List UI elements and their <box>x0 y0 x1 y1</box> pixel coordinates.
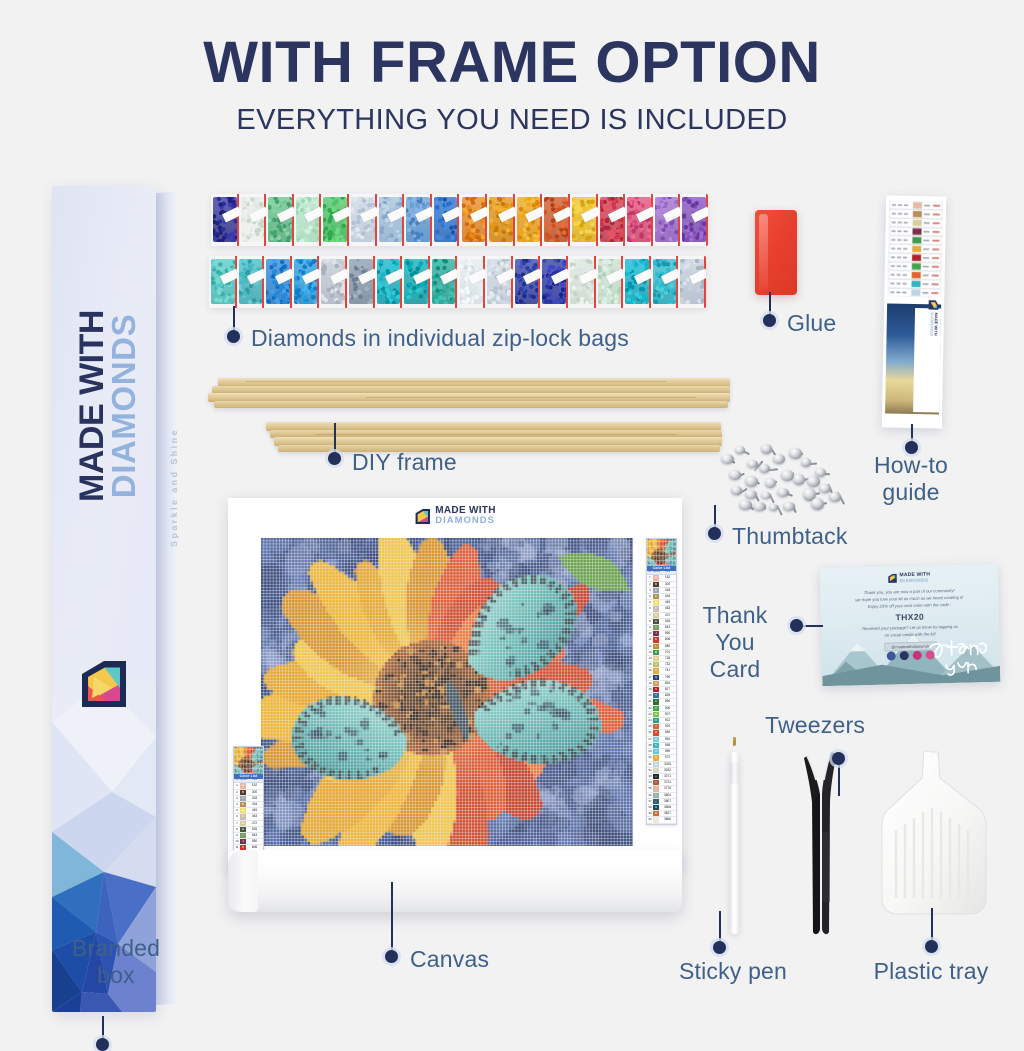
thumbtack-pile <box>715 440 845 516</box>
thumbtack <box>739 500 752 510</box>
thumbtack <box>745 476 758 487</box>
zip-lock-bag <box>209 256 237 308</box>
zip-lock-bag <box>402 256 430 308</box>
zip-lock-bag <box>568 256 596 308</box>
thank-you-card-dot <box>790 619 803 632</box>
twitter-icon <box>900 651 909 660</box>
branded-box: Sparkle and Shine <box>52 186 178 1018</box>
canvas-dot <box>385 950 398 963</box>
brand-logo-icon <box>414 508 431 525</box>
zip-lock-bag <box>404 194 432 246</box>
zip-lock-bag <box>430 256 458 308</box>
color-list-rows: 1A1522B3003C3184D4345E4456F4537G4728H535… <box>647 575 676 823</box>
thumbtack <box>815 468 826 477</box>
canvas-logo-diamonds: DIAMONDS <box>435 516 495 526</box>
frame-slat <box>278 445 720 452</box>
color-list-row: 40C3866 <box>647 817 676 823</box>
wood-grain <box>246 381 666 382</box>
canvas-artwork <box>261 538 633 846</box>
bag-row-top <box>211 194 708 246</box>
facebook-icon <box>887 651 896 660</box>
callout-thumbtack: Thumbtack <box>732 523 848 550</box>
zip-lock-bag <box>625 194 653 246</box>
guide-color-chart <box>887 201 943 298</box>
zip-lock-bag <box>460 194 488 246</box>
tweezers <box>801 742 843 938</box>
bag-zip-seal <box>704 256 706 308</box>
callout-sticky-pen: Sticky pen <box>672 958 794 985</box>
glue-dot <box>763 314 776 327</box>
color-list-rows: 1A1522B3003C3184D4345E4456F4537G4728H535… <box>234 783 263 857</box>
wood-grain <box>366 397 696 398</box>
zip-lock-bag <box>432 194 460 246</box>
thumbtack <box>731 486 742 495</box>
thumbtack <box>759 464 770 473</box>
thumbtack <box>807 476 820 487</box>
zip-lock-bag <box>570 194 598 246</box>
glue <box>755 210 797 295</box>
canvas: MADE WITH DIAMONDS Color List No Symbol … <box>228 498 682 918</box>
zip-lock-bag <box>266 194 294 246</box>
diy-frame-leader-v <box>334 423 336 455</box>
zip-lock-bag <box>237 256 265 308</box>
callout-branded-box: Branded box <box>56 935 176 989</box>
guide-brand-logo: MADE WITH DIAMONDS <box>928 299 940 336</box>
callout-diy-frame: DIY frame <box>352 449 457 476</box>
sticky-pen <box>729 736 741 936</box>
zip-lock-bag <box>292 256 320 308</box>
diy-frame-dot <box>328 452 341 465</box>
thumbtack <box>761 444 772 454</box>
wood-grain <box>316 434 676 435</box>
guide-logo-made: MADE WITH <box>933 313 937 337</box>
thumbtack <box>781 470 794 481</box>
sticky-pen-leader <box>719 911 721 945</box>
card-thank-you-script <box>925 636 992 678</box>
callout-canvas: Canvas <box>410 946 489 973</box>
how-to-guide: MADE WITH DIAMONDS <box>882 195 946 428</box>
card-logo-diamonds: DIAMONDS <box>900 577 931 583</box>
bags-dot <box>227 330 240 343</box>
color-list-left: Color List No Symbol Color 1A1522B3003C3… <box>233 746 264 859</box>
infographic-stage: WITH FRAME OPTION EVERYTHING YOU NEED IS… <box>0 0 1024 1024</box>
thumbtack <box>789 448 802 459</box>
zip-lock-bag <box>377 194 405 246</box>
callout-plastic-tray: Plastic tray <box>862 958 1000 985</box>
zip-lock-bag <box>319 256 347 308</box>
plastic-tray-dot <box>925 940 938 953</box>
thumbtack <box>761 492 771 499</box>
roll-end <box>228 850 258 912</box>
canvas-rolled-edge <box>228 850 682 912</box>
thumbtack <box>735 446 745 454</box>
thumbtack <box>745 490 757 499</box>
frame-slat <box>214 401 728 408</box>
box-side-panel: Sparkle and Shine <box>156 192 177 1005</box>
zip-lock-bag <box>485 256 513 308</box>
thank-you-card: MADE WITH DIAMONDS Thank you, you are no… <box>820 564 1001 686</box>
thumbtack <box>729 470 741 480</box>
zip-lock-bag <box>321 194 349 246</box>
zip-lock-bag <box>678 256 706 308</box>
thumbtack <box>765 478 776 488</box>
zip-lock-bag <box>347 256 375 308</box>
brand-made-with: MADE WITH <box>76 236 108 576</box>
box-tagline: Sparkle and Shine <box>169 447 179 548</box>
thumbtack <box>769 504 778 511</box>
zip-lock-bag <box>598 194 626 246</box>
zip-lock-bag <box>349 194 377 246</box>
zip-lock-bag <box>487 194 515 246</box>
card-brand-logo: MADE WITH DIAMONDS <box>887 572 930 583</box>
zip-lock-bag <box>211 194 239 246</box>
guide-logo-diamonds: DIAMONDS <box>929 312 934 336</box>
zip-lock-bag <box>513 256 541 308</box>
zip-lock-bag <box>651 256 679 308</box>
box-front-panel: MADE WITH DIAMONDS <box>52 186 156 1012</box>
sticky-pen-dot <box>713 941 726 954</box>
canvas-brand-logo: MADE WITH DIAMONDS <box>414 506 495 526</box>
thumbtack <box>829 492 841 502</box>
thumbtack <box>747 460 758 468</box>
thumbtack <box>819 484 831 493</box>
thumbtack <box>801 458 811 467</box>
callout-tweezers: Tweezers <box>765 712 865 739</box>
canvas-leader <box>391 882 393 954</box>
zip-lock-bag <box>375 256 403 308</box>
callout-zip-lock-bags: Diamonds in individual zip-lock bags <box>251 325 629 352</box>
zip-lock-bag <box>264 256 292 308</box>
thumbtack <box>811 498 824 510</box>
thumbtack <box>773 454 785 464</box>
thumbtack <box>753 502 766 511</box>
zip-lock-bag <box>458 256 486 308</box>
callout-how-to-guide: How-to guide <box>851 452 971 506</box>
zip-lock-bag <box>680 194 708 246</box>
pinterest-icon <box>913 651 922 660</box>
brand-logo-icon <box>78 658 130 710</box>
page-title: WITH FRAME OPTION <box>0 34 1024 92</box>
color-list-right: Color List No Symbol Color 1A1522B3003C3… <box>646 538 677 825</box>
bag-zip-seal <box>706 194 708 246</box>
zip-lock-bag <box>515 194 543 246</box>
zip-lock-bag <box>540 256 568 308</box>
thumbtack <box>777 488 789 497</box>
zip-lock-bag <box>542 194 570 246</box>
canvas-sheet: MADE WITH DIAMONDS Color List No Symbol … <box>228 498 682 870</box>
zip-lock-bag <box>623 256 651 308</box>
thumbtack-dot <box>708 527 721 540</box>
thumbtack-leader <box>714 505 716 529</box>
branded-box-dot <box>96 1038 109 1051</box>
brand-diamonds: DIAMONDS <box>108 236 139 576</box>
page-subtitle: EVERYTHING YOU NEED IS INCLUDED <box>0 106 1024 135</box>
plastic-tray-leader <box>931 908 933 944</box>
thumbtack <box>783 502 795 511</box>
zip-lock-bag <box>596 256 624 308</box>
zip-lock-bag <box>294 194 322 246</box>
zip-lock-bag <box>653 194 681 246</box>
plastic-tray <box>872 748 994 948</box>
bag-row-bottom <box>209 256 706 308</box>
callout-glue: Glue <box>787 310 836 337</box>
tweezers-dot <box>832 752 845 765</box>
thumbtack <box>793 474 805 485</box>
pen-grip <box>730 762 739 784</box>
callout-thank-you-card: Thank You Card <box>683 602 787 683</box>
tweezers-leader <box>838 760 840 796</box>
zip-lock-bag <box>239 194 267 246</box>
diy-frame <box>206 372 736 466</box>
box-brand-text: MADE WITH DIAMONDS <box>76 236 136 576</box>
